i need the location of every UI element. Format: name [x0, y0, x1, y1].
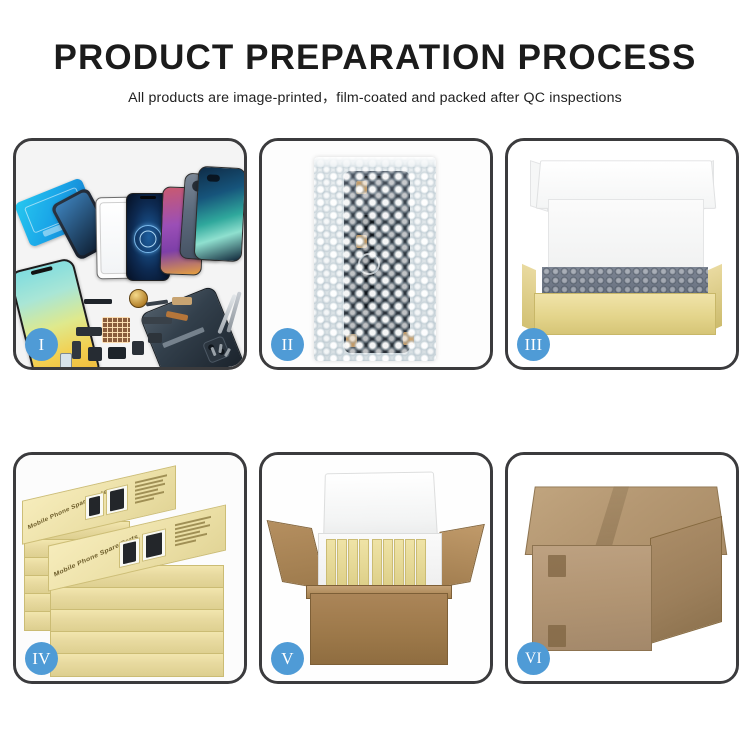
process-step-card-5: V [259, 452, 493, 684]
process-step-card-1: I [13, 138, 247, 370]
teal-phone-icon [194, 166, 244, 262]
tweezers-icon [208, 291, 238, 347]
process-step-card-2: II [259, 138, 493, 370]
process-steps-grid: I II [13, 138, 739, 684]
carton-tape-top-icon [548, 555, 566, 577]
carton-tape-bottom-icon [548, 625, 566, 647]
step-badge-2: II [271, 328, 304, 361]
carton-front-icon [310, 593, 448, 665]
process-step-card-3: III [505, 138, 739, 370]
step-badge-1: I [25, 328, 58, 361]
screws-icon [212, 343, 234, 359]
product-preparation-page: PRODUCT PREPARATION PROCESS All products… [0, 0, 750, 750]
foam-sheet-icon [548, 199, 704, 277]
yellow-box-front-icon [534, 293, 716, 335]
header: PRODUCT PREPARATION PROCESS All products… [0, 0, 750, 107]
yellow-boxes-inside-icon [326, 539, 432, 587]
step-badge-5: V [271, 642, 304, 675]
page-title: PRODUCT PREPARATION PROCESS [0, 38, 750, 77]
step-badge-3: III [517, 328, 550, 361]
process-step-card-4: Mobile Phone Spare Parts Mobile Phone Sp… [13, 452, 247, 684]
foam-box-lid-icon [323, 472, 438, 543]
bubble-wrap-bag-icon [314, 157, 436, 361]
process-step-card-6: VI [505, 452, 739, 684]
step-badge-6: VI [517, 642, 550, 675]
step-badge-4: IV [25, 642, 58, 675]
logic-board-chip-icon [102, 317, 130, 343]
speaker-coil-icon [129, 289, 148, 308]
page-subtitle: All products are image-printed，film-coat… [0, 87, 750, 107]
carton-side-face-icon [650, 516, 722, 644]
